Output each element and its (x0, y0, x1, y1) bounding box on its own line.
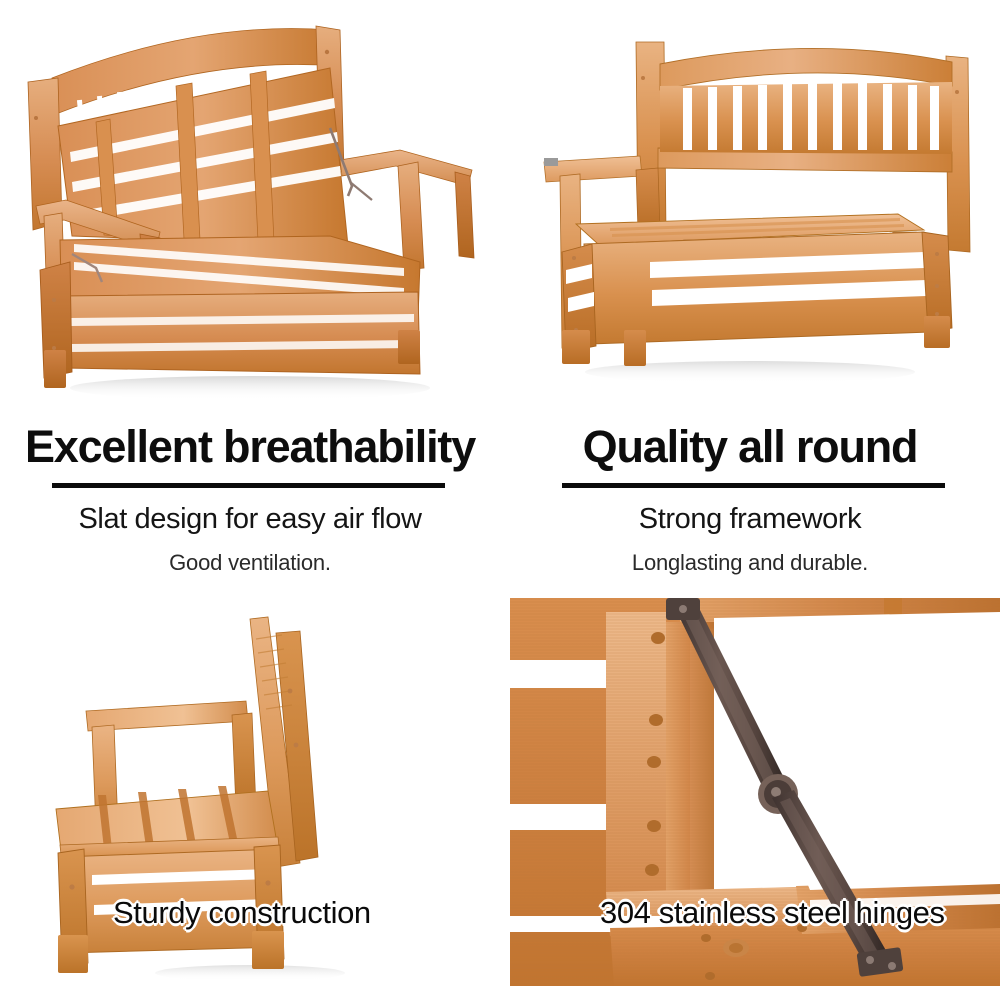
caption-stainless-steel-hinges: 304 stainless steel hinges (600, 895, 945, 931)
headline-rule-left (52, 483, 445, 488)
feature-block-breathability: Excellent breathability Slat design for … (0, 410, 500, 595)
feature-tertiary-quality: Longlasting and durable. (500, 550, 1000, 576)
infographic-canvas: Excellent breathability Slat design for … (0, 0, 1000, 1000)
feature-subhead-quality: Strong framework (500, 502, 1000, 536)
feature-tertiary-breathability: Good ventilation. (0, 550, 500, 576)
open-storage-bench-photo (0, 0, 500, 410)
feature-subhead-breathability: Slat design for easy air flow (0, 502, 500, 536)
closed-storage-bench-photo (500, 0, 1000, 410)
feature-text-band: Excellent breathability Slat design for … (0, 410, 1000, 595)
feature-block-quality: Quality all round Strong framework Longl… (500, 410, 1000, 595)
feature-headline-breathability: Excellent breathability (0, 422, 500, 472)
feature-headline-quality: Quality all round (500, 422, 1000, 472)
headline-rule-right (562, 483, 945, 488)
side-profile-bench-photo (0, 595, 500, 1000)
caption-sturdy-construction: Sturdy construction (113, 895, 371, 931)
